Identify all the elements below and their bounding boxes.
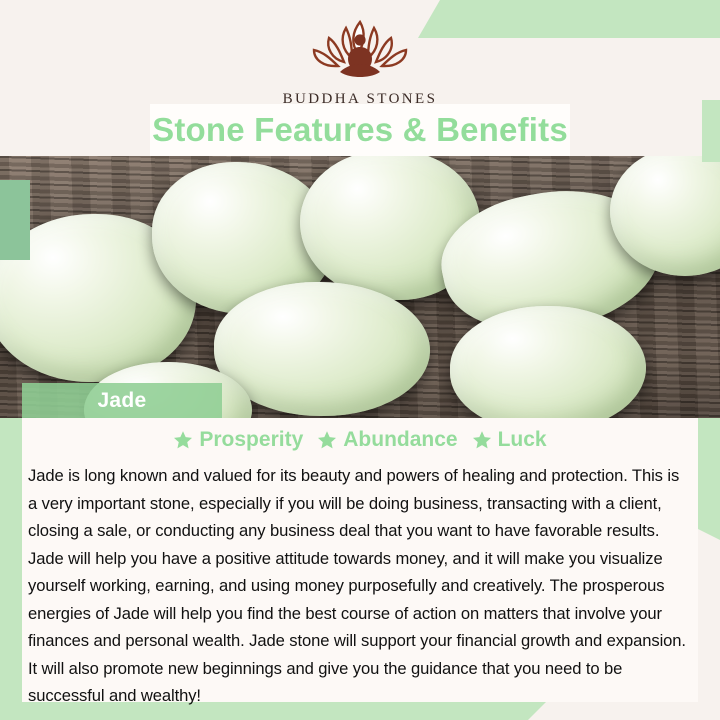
star-icon <box>472 430 492 450</box>
benefit-item: Prosperity <box>173 428 303 452</box>
jade-stone <box>450 306 646 418</box>
title-band: Stone Features & Benefits <box>0 104 720 156</box>
benefits-row: Prosperity Abundance Luck <box>22 418 698 458</box>
decorative-strip-header-right <box>702 100 720 162</box>
benefit-label: Prosperity <box>199 428 303 452</box>
benefit-label: Abundance <box>343 428 457 452</box>
star-icon <box>173 430 193 450</box>
description-text: Jade is long known and valued for its be… <box>22 458 698 710</box>
benefit-label: Luck <box>498 428 547 452</box>
brand-header: BUDDHA STONES <box>0 14 720 108</box>
brand-name: BUDDHA STONES <box>283 91 438 108</box>
star-icon <box>317 430 337 450</box>
description-panel: Prosperity Abundance Luck Jade is long k… <box>22 418 698 702</box>
benefit-item: Luck <box>472 428 547 452</box>
decorative-strip-text-left <box>0 418 22 704</box>
lotus-meditation-icon <box>296 14 424 86</box>
page-title: Stone Features & Benefits <box>0 104 720 156</box>
stone-name-band: Jade <box>22 383 222 418</box>
stone-photo <box>0 156 720 418</box>
decorative-strip-photo-left <box>0 180 30 260</box>
benefit-item: Abundance <box>317 428 457 452</box>
stone-name-label: Jade <box>97 389 146 413</box>
stone-features-card: BUDDHA STONES Stone Features & Benefits … <box>0 0 720 720</box>
